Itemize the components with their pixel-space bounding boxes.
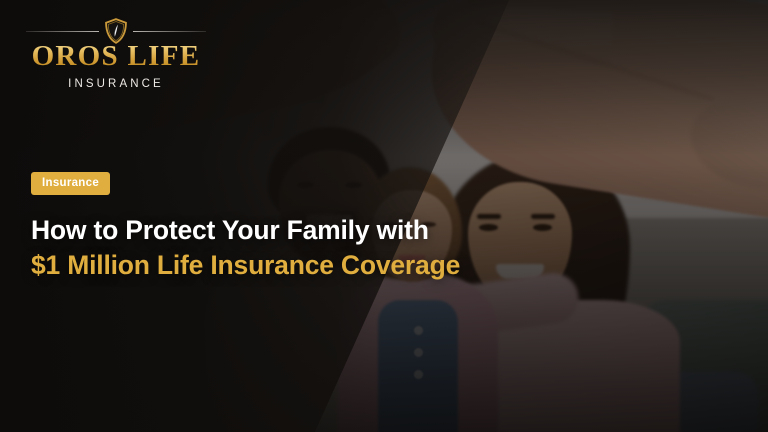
logo-crest-row	[26, 18, 206, 44]
logo-rule-right	[133, 31, 206, 32]
headline-line-2: $1 Million Life Insurance Coverage	[31, 248, 460, 283]
logo-rule-left	[26, 31, 99, 32]
category-badge[interactable]: Insurance	[31, 172, 110, 195]
hero-text-block: Insurance How to Protect Your Family wit…	[31, 172, 460, 283]
brand-logo[interactable]: OROS LIFE INSURANCE	[26, 18, 206, 90]
insurance-hero-banner: OROS LIFE INSURANCE Insurance How to Pro…	[0, 0, 768, 432]
headline-line-1: How to Protect Your Family with	[31, 213, 460, 248]
shield-icon	[103, 18, 129, 44]
logo-subtitle: INSURANCE	[26, 78, 206, 90]
logo-wordmark: OROS LIFE	[26, 41, 206, 71]
hero-headline: How to Protect Your Family with $1 Milli…	[31, 213, 460, 283]
